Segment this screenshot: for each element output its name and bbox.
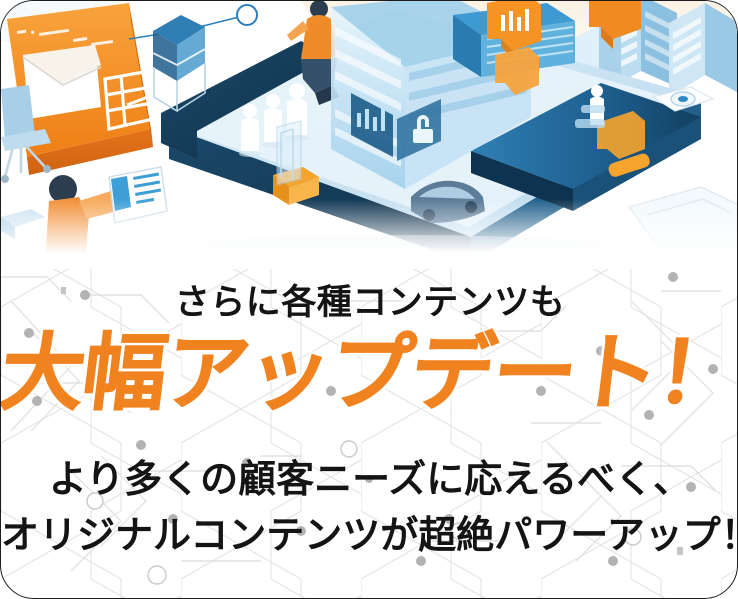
hero-illustration bbox=[1, 1, 738, 269]
sub-line-2: オリジナルコンテンツが超絶パワーアップ！ bbox=[1, 517, 738, 555]
lead-text: さらに各種コンテンツも bbox=[1, 285, 738, 320]
promo-banner: さらに各種コンテンツも 大幅アップデート！ より多くの顧客ニーズに応えるべく、 … bbox=[0, 0, 738, 599]
sub-line-1: より多くの顧客ニーズに応えるべく、 bbox=[1, 461, 738, 499]
headline: 大幅アップデート！ bbox=[1, 331, 738, 415]
copy-block: さらに各種コンテンツも 大幅アップデート！ より多くの顧客ニーズに応えるべく、 … bbox=[1, 269, 738, 599]
headline-text: 大幅アップデート！ bbox=[0, 331, 738, 415]
